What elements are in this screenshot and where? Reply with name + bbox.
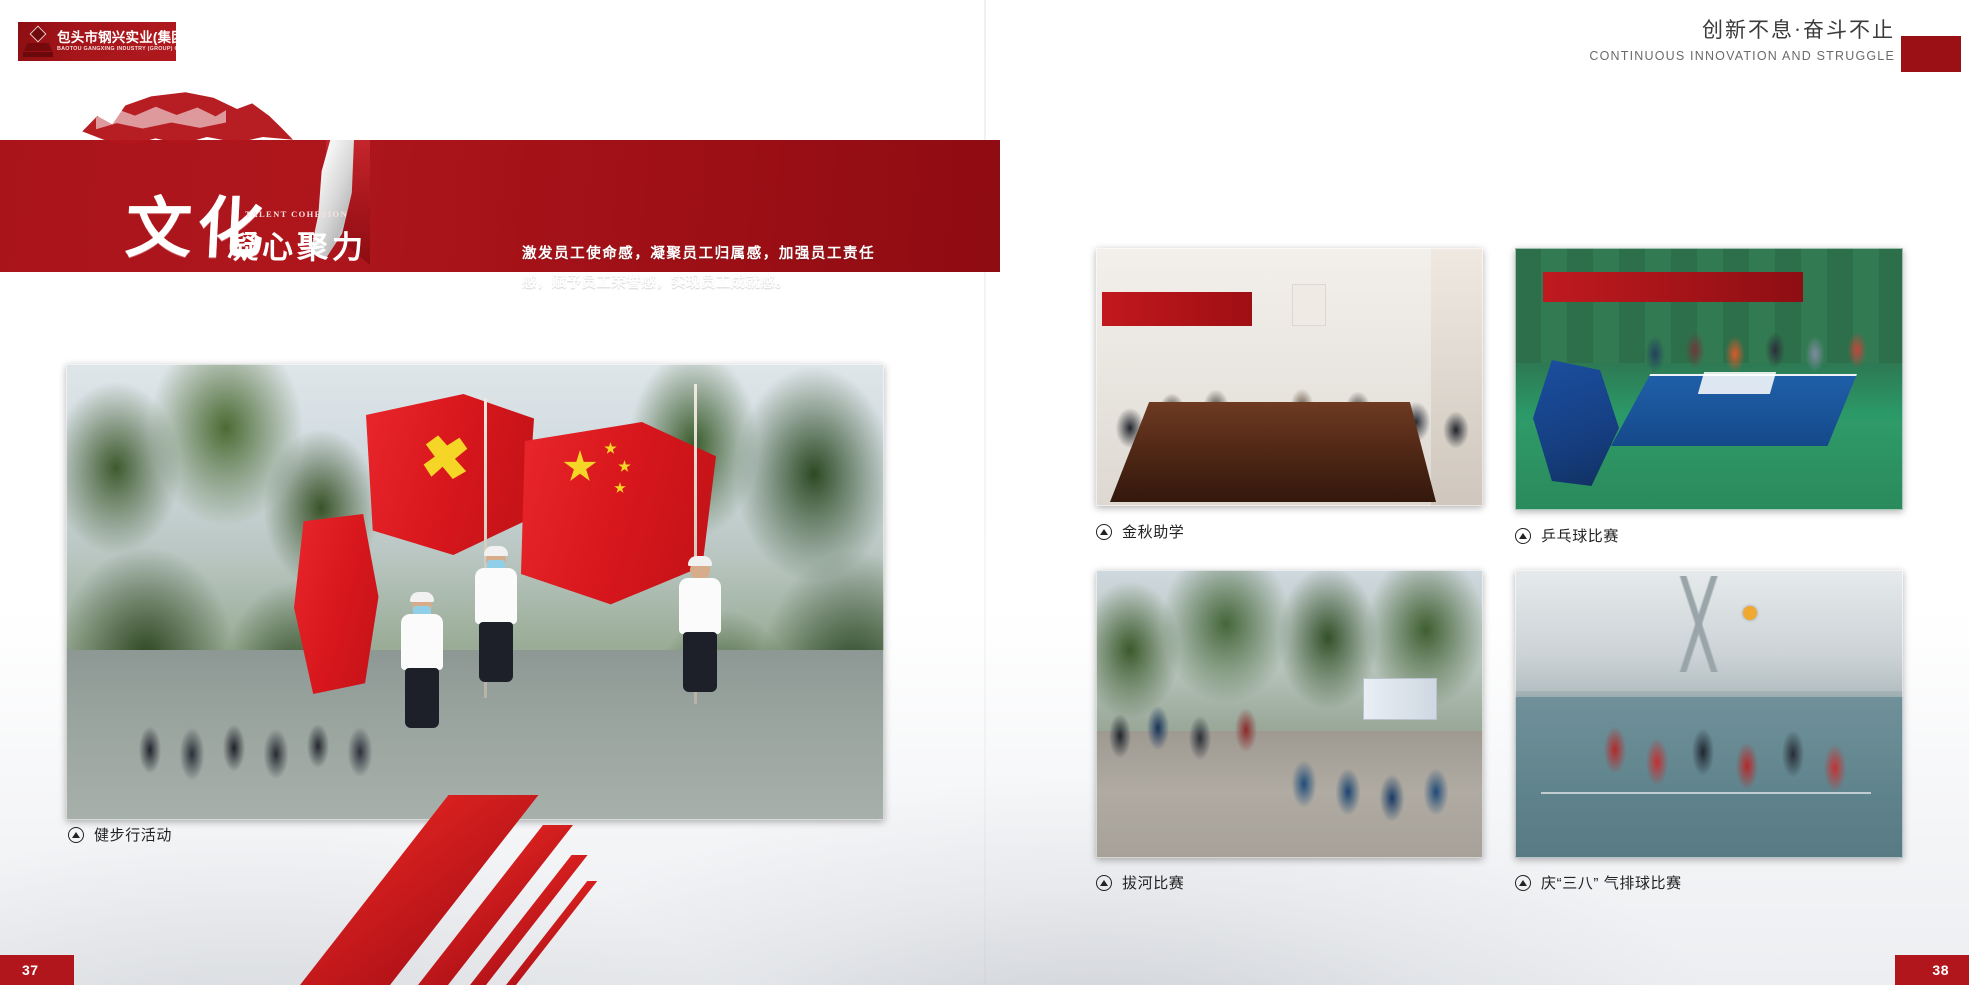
- caption-marker-icon: [1096, 524, 1112, 540]
- company-logo: 包头市钢兴实业(集团)有限公司 BAOTOU GANGXING INDUSTRY…: [18, 22, 176, 61]
- person-walker: [670, 560, 730, 700]
- photo-table-tennis-match: [1515, 248, 1903, 510]
- page-number-left: 37: [22, 962, 39, 978]
- caption-volleyball-match: 庆“三八” 气排球比赛: [1515, 872, 1682, 893]
- caption-label: 健步行活动: [94, 824, 172, 845]
- caption-marker-icon: [68, 827, 84, 843]
- slogan-red-square: [1901, 36, 1961, 72]
- caption-label: 拔河比赛: [1122, 872, 1184, 893]
- header-slogan: 创新不息·奋斗不止 CONTINUOUS INNOVATION AND STRU…: [1589, 14, 1969, 63]
- logo-mark-icon: [23, 25, 53, 58]
- photo-autumn-scholarship: [1096, 248, 1483, 506]
- caption-label: 乒乓球比赛: [1541, 525, 1619, 546]
- caption-table-tennis-match: 乒乓球比赛: [1515, 525, 1619, 546]
- logo-company-name-cn: 包头市钢兴实业(集团)有限公司: [57, 31, 176, 45]
- ball-icon: [1743, 606, 1757, 620]
- section-paragraph: 激发员工使命感，凝聚员工归属感，加强员工责任感，赋予员工荣誉感，实现员工成就感。: [522, 240, 874, 298]
- logo-company-name-en: BAOTOU GANGXING INDUSTRY (GROUP) CO., LT…: [57, 47, 176, 53]
- photo-tug-of-war: [1096, 570, 1483, 858]
- section-subtitle-cn: 凝心聚力: [227, 222, 367, 267]
- caption-hiking-activity: 健步行活动: [68, 824, 172, 845]
- caption-marker-icon: [1096, 875, 1112, 891]
- photo-hiking-activity: [66, 364, 884, 820]
- photo-volleyball-match: [1515, 570, 1903, 858]
- caption-label: 金秋助学: [1122, 521, 1184, 542]
- logo-text: 包头市钢兴实业(集团)有限公司 BAOTOU GANGXING INDUSTRY…: [57, 31, 176, 53]
- page-number-right: 38: [1932, 962, 1949, 978]
- person-walker: [396, 596, 448, 716]
- caption-autumn-scholarship: 金秋助学: [1096, 521, 1184, 542]
- person-walker: [466, 550, 526, 690]
- section-title-en: TALENT COHESION: [245, 209, 348, 219]
- caption-tug-of-war: 拔河比赛: [1096, 872, 1184, 893]
- caption-label: 庆“三八” 气排球比赛: [1541, 872, 1682, 893]
- caption-marker-icon: [1515, 875, 1531, 891]
- brochure-spread: 包头市钢兴实业(集团)有限公司 BAOTOU GANGXING INDUSTRY…: [0, 0, 1969, 985]
- caption-marker-icon: [1515, 528, 1531, 544]
